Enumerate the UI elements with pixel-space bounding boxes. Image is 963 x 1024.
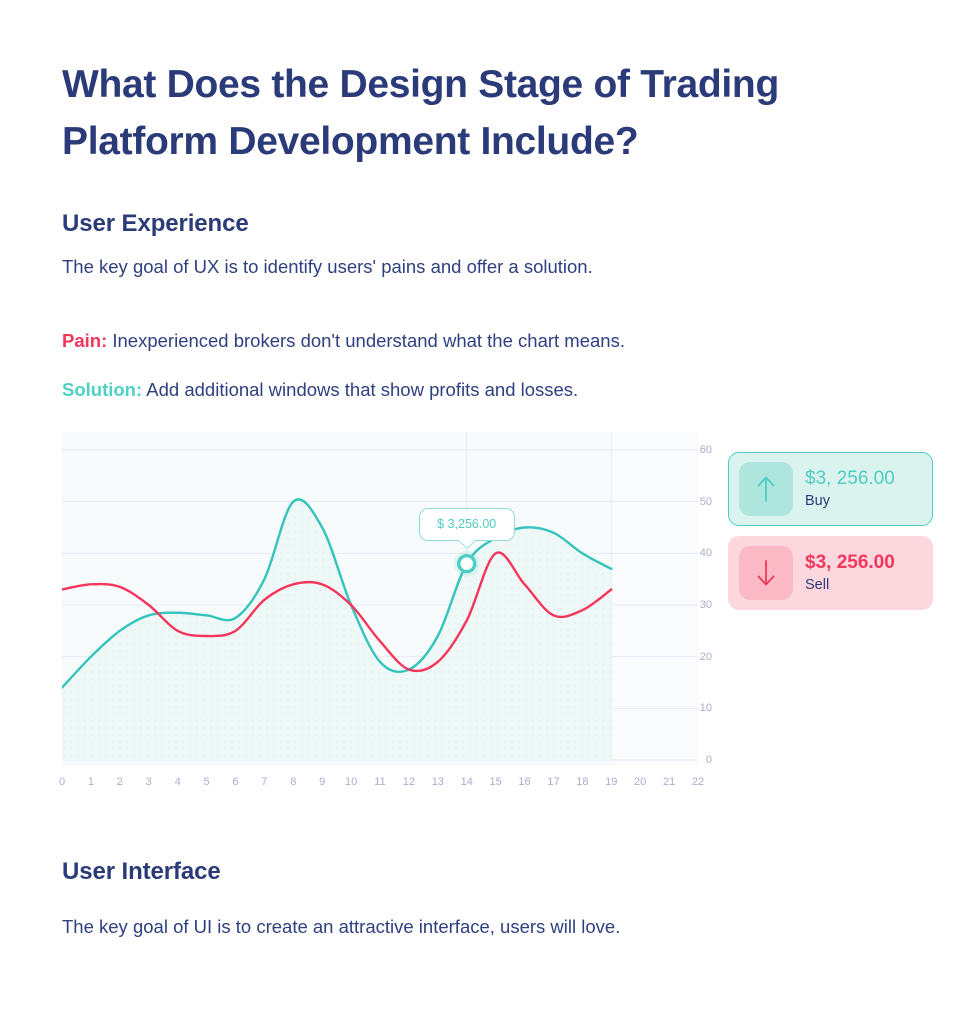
buy-amount: $3, 256.00 (805, 467, 895, 491)
sell-label: Sell (805, 575, 895, 595)
infographic-page: What Does the Design Stage of Trading Pl… (0, 0, 963, 1024)
chart-tooltip-value: $ 3,256.00 (437, 517, 496, 531)
pain-text: Inexperienced brokers don't understand w… (112, 330, 625, 351)
solution-label: Solution: (62, 379, 142, 400)
sell-amount: $3, 256.00 (805, 551, 895, 575)
trading-chart[interactable]: 0102030405060 01234567891011121314151617… (62, 432, 712, 800)
page-title: What Does the Design Stage of Trading Pl… (62, 56, 882, 170)
chart-tooltip: $ 3,256.00 (419, 508, 515, 541)
sell-card[interactable]: $3, 256.00 Sell (728, 536, 933, 610)
buy-card-text: $3, 256.00 Buy (805, 467, 895, 511)
section-heading-user-experience: User Experience (62, 210, 249, 238)
solution-line: Solution: Add additional windows that sh… (62, 377, 578, 403)
buy-card[interactable]: $3, 256.00 Buy (728, 452, 933, 526)
pain-label: Pain: (62, 330, 107, 351)
arrow-down-icon (739, 546, 793, 600)
user-interface-subtitle: The key goal of UI is to create an attra… (62, 914, 620, 940)
pain-line: Pain: Inexperienced brokers don't unders… (62, 328, 625, 354)
trade-cards: $3, 256.00 Buy $3, 256.00 Sell (728, 452, 933, 610)
arrow-up-icon (739, 462, 793, 516)
chart-canvas (62, 432, 712, 800)
sell-card-text: $3, 256.00 Sell (805, 551, 895, 595)
section-heading-user-interface: User Interface (62, 858, 221, 886)
solution-text: Add additional windows that show profits… (146, 379, 578, 400)
user-experience-subtitle: The key goal of UX is to identify users'… (62, 254, 593, 280)
buy-label: Buy (805, 491, 895, 511)
